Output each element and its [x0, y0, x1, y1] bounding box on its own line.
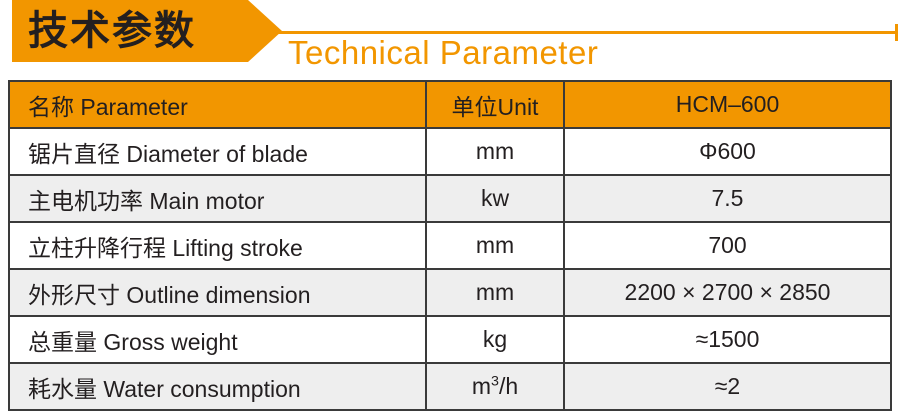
page-title-en: Technical Parameter: [288, 31, 598, 75]
table-row: 主电机功率 Main motorkw7.5: [9, 175, 891, 222]
cell-unit: mm: [426, 269, 564, 316]
cell-value: ≈2: [564, 363, 891, 410]
cell-value: 2200 × 2700 × 2850: [564, 269, 891, 316]
cell-unit: mm: [426, 128, 564, 175]
table-header: 名称 Parameter 单位Unit HCM–600: [9, 81, 891, 128]
column-header-unit: 单位Unit: [426, 81, 564, 128]
unit-exponent: 3: [491, 373, 499, 389]
cell-unit: mm: [426, 222, 564, 269]
page-header: 技术参数 Technical Parameter: [0, 0, 900, 78]
table-row: 立柱升降行程 Lifting strokemm700: [9, 222, 891, 269]
header-rule-end-cap: [895, 24, 898, 41]
table-row: 耗水量 Water consumptionm3/h≈2: [9, 363, 891, 410]
cell-value: 7.5: [564, 175, 891, 222]
page-title-cn: 技术参数: [28, 3, 238, 59]
unit-base: m: [472, 373, 491, 399]
cell-parameter: 总重量 Gross weight: [9, 316, 426, 363]
unit-suffix: /h: [499, 373, 518, 399]
cell-unit: m3/h: [426, 363, 564, 410]
table-body: 锯片直径 Diameter of blademmΦ600主电机功率 Main m…: [9, 128, 891, 410]
cell-value: 700: [564, 222, 891, 269]
cell-value: ≈1500: [564, 316, 891, 363]
cell-parameter: 外形尺寸 Outline dimension: [9, 269, 426, 316]
table-row: 外形尺寸 Outline dimensionmm2200 × 2700 × 28…: [9, 269, 891, 316]
cell-unit: kg: [426, 316, 564, 363]
table-header-row: 名称 Parameter 单位Unit HCM–600: [9, 81, 891, 128]
column-header-parameter: 名称 Parameter: [9, 81, 426, 128]
cell-unit: kw: [426, 175, 564, 222]
table-row: 锯片直径 Diameter of blademmΦ600: [9, 128, 891, 175]
technical-parameter-table: 名称 Parameter 单位Unit HCM–600 锯片直径 Diamete…: [8, 80, 892, 411]
cell-parameter: 耗水量 Water consumption: [9, 363, 426, 410]
cell-parameter: 主电机功率 Main motor: [9, 175, 426, 222]
table-row: 总重量 Gross weightkg≈1500: [9, 316, 891, 363]
cell-parameter: 立柱升降行程 Lifting stroke: [9, 222, 426, 269]
cell-value: Φ600: [564, 128, 891, 175]
cell-parameter: 锯片直径 Diameter of blade: [9, 128, 426, 175]
column-header-model: HCM–600: [564, 81, 891, 128]
